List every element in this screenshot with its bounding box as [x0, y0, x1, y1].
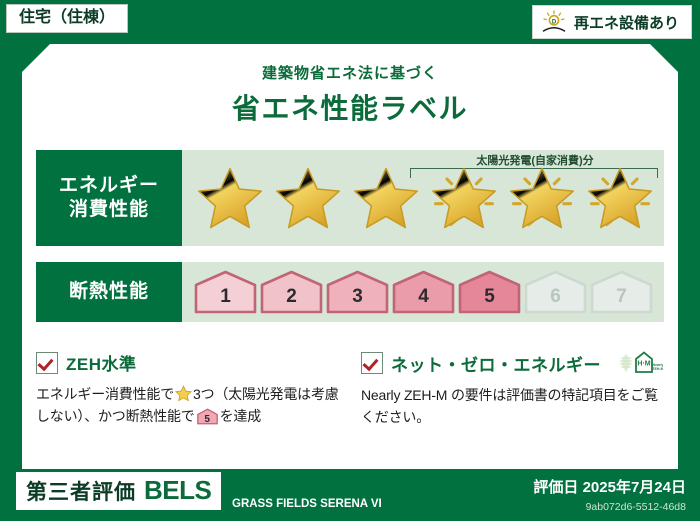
insulation-level-scale: 1 2 3 4 5 6 7 — [182, 270, 653, 314]
insulation-level-2: 2 — [260, 270, 323, 314]
house-level-value: 5 — [197, 412, 218, 428]
svg-text:D: D — [552, 19, 557, 25]
note-nze-title: ネット・ゼロ・エネルギー — [391, 351, 601, 376]
note-zeh-title: ZEH水準 — [66, 350, 137, 375]
building-type-tag: 住宅（住棟） — [6, 4, 128, 33]
label-footer: 第三者評価 BELS GRASS FIELDS SERENA VI 評価日 20… — [0, 469, 700, 521]
insulation-level-value: 3 — [326, 286, 389, 308]
insulation-performance-row: 断熱性能 1 2 3 4 5 6 7 — [36, 262, 664, 322]
energy-performance-label: エネルギー 消費性能 — [36, 150, 182, 246]
insulation-level-value: 2 — [260, 286, 323, 308]
renewable-energy-badge: D 再エネ設備あり — [532, 5, 692, 39]
note-zeh-header: ZEH水準 — [36, 350, 345, 375]
insulation-rating-panel: 1 2 3 4 5 6 7 — [182, 262, 664, 322]
bels-energy-label: 住宅（住棟） D 再エネ設備あり 建築物省エネ法に基づく 省エネ性能ラベル — [0, 0, 700, 521]
criteria-notes: ZEH水準 エネルギー消費性能で3つ（太陽光発電は考慮しない）、かつ断熱性能で5… — [36, 350, 670, 428]
energy-star-rating — [182, 160, 664, 236]
energy-label-line2: 消費性能 — [69, 198, 149, 222]
insulation-performance-label: 断熱性能 — [36, 262, 182, 322]
note-zeh-text-3: を達成 — [220, 408, 261, 424]
star-icon — [175, 385, 192, 402]
energy-star-2 — [270, 160, 346, 236]
solar-sun-icon: D — [541, 10, 567, 34]
svg-text:ZEH-M: ZEH-M — [652, 367, 663, 371]
note-nze-header: ネット・ゼロ・エネルギー H·M Nearly ZEH-M — [361, 350, 670, 376]
insulation-level-5: 5 — [458, 270, 521, 314]
nearly-zeh-m-logo: H·M Nearly ZEH-M — [615, 350, 663, 376]
house-level-icon: 5 — [197, 408, 218, 425]
renewable-badge-label: 再エネ設備あり — [574, 12, 679, 33]
title-subtitle: 建築物省エネ法に基づく — [0, 62, 700, 83]
insulation-level-value: 1 — [194, 286, 257, 308]
insulation-level-4: 4 — [392, 270, 455, 314]
energy-star-3 — [348, 160, 424, 236]
energy-label-line1: エネルギー — [59, 174, 159, 198]
note-zeh-body: エネルギー消費性能で3つ（太陽光発電は考慮しない）、かつ断熱性能で5を達成 — [36, 384, 345, 427]
insulation-level-value: 4 — [392, 286, 455, 308]
checkmark-icon — [36, 352, 58, 374]
note-nze-body: Nearly ZEH-M の要件は評価書の特記項目をご覧ください。 — [361, 385, 670, 428]
building-name: GRASS FIELDS SERENA VI — [232, 497, 442, 511]
note-net-zero-energy: ネット・ゼロ・エネルギー H·M Nearly ZEH-M — [361, 350, 670, 428]
bels-logo-box: 第三者評価 BELS — [16, 472, 221, 510]
insulation-level-value: 5 — [458, 286, 521, 308]
insulation-level-value: 7 — [590, 286, 653, 308]
energy-star-5 — [504, 160, 580, 236]
bels-jp-label: 第三者評価 — [26, 476, 136, 506]
energy-rating-panel: 太陽光発電(自家消費)分 — [182, 150, 664, 246]
bels-en-label: BELS — [144, 475, 211, 506]
label-title-block: 建築物省エネ法に基づく 省エネ性能ラベル — [0, 62, 700, 127]
insulation-level-3: 3 — [326, 270, 389, 314]
note-zeh-text-1: エネルギー消費性能で — [36, 386, 174, 402]
insulation-level-7: 7 — [590, 270, 653, 314]
energy-star-4 — [426, 160, 502, 236]
note-zeh-standard: ZEH水準 エネルギー消費性能で3つ（太陽光発電は考慮しない）、かつ断熱性能で5… — [36, 350, 345, 428]
svg-text:H·M: H·M — [637, 361, 650, 368]
page-title: 省エネ性能ラベル — [0, 87, 700, 127]
energy-star-1 — [192, 160, 268, 236]
insulation-level-6: 6 — [524, 270, 587, 314]
insulation-level-1: 1 — [194, 270, 257, 314]
evaluation-id: 9ab072d6-5512-46d8 — [586, 501, 686, 513]
energy-star-6 — [582, 160, 658, 236]
checkmark-icon — [361, 352, 383, 374]
insulation-level-value: 6 — [524, 286, 587, 308]
energy-performance-row: エネルギー 消費性能 太陽光発電(自家消費)分 — [36, 150, 664, 246]
evaluation-date: 評価日 2025年7月24日 — [533, 476, 686, 497]
